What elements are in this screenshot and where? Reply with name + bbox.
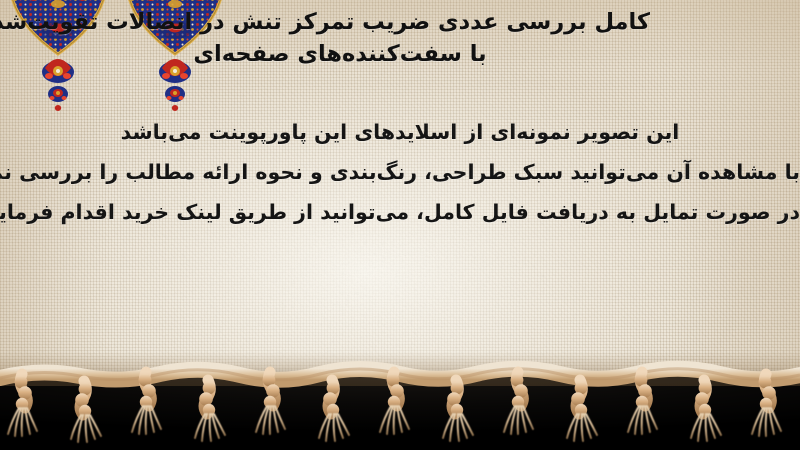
slide-body: این تصویر نمونه‌ای از اسلایدهای این پاور… (0, 112, 800, 232)
slide-title-line-2: با سفت‌کننده‌های صفحه‌ای (20, 38, 780, 70)
slide-title-line-1: کامل بررسی عددی ضریب تمرکز تنش در اتصالا… (20, 6, 780, 38)
slide-body-line-3: در صورت تمایل به دریافت فایل کامل، می‌تو… (0, 192, 800, 232)
slide-title: کامل بررسی عددی ضریب تمرکز تنش در اتصالا… (20, 6, 780, 70)
slide-body-line-2: با مشاهده آن می‌توانید سبک طراحی، رنگ‌بن… (0, 152, 800, 192)
slide-body-line-1: این تصویر نمونه‌ای از اسلایدهای این پاور… (0, 112, 800, 152)
carpet-tassel-fringe (0, 344, 800, 450)
presentation-slide: کامل بررسی عددی ضریب تمرکز تنش در اتصالا… (0, 0, 800, 450)
